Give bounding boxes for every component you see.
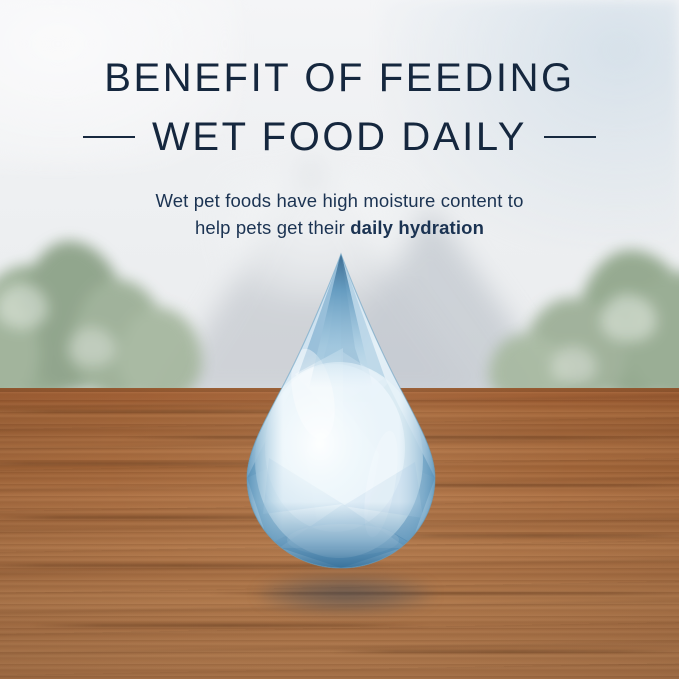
promo-banner: BENEFIT OF FEEDING WET FOOD DAILY Wet pe…	[0, 0, 679, 679]
droplet-contact-shadow	[258, 575, 433, 613]
tree-cluster-left	[0, 235, 240, 400]
tree-cluster-right	[479, 250, 679, 400]
water-droplet	[239, 252, 443, 570]
